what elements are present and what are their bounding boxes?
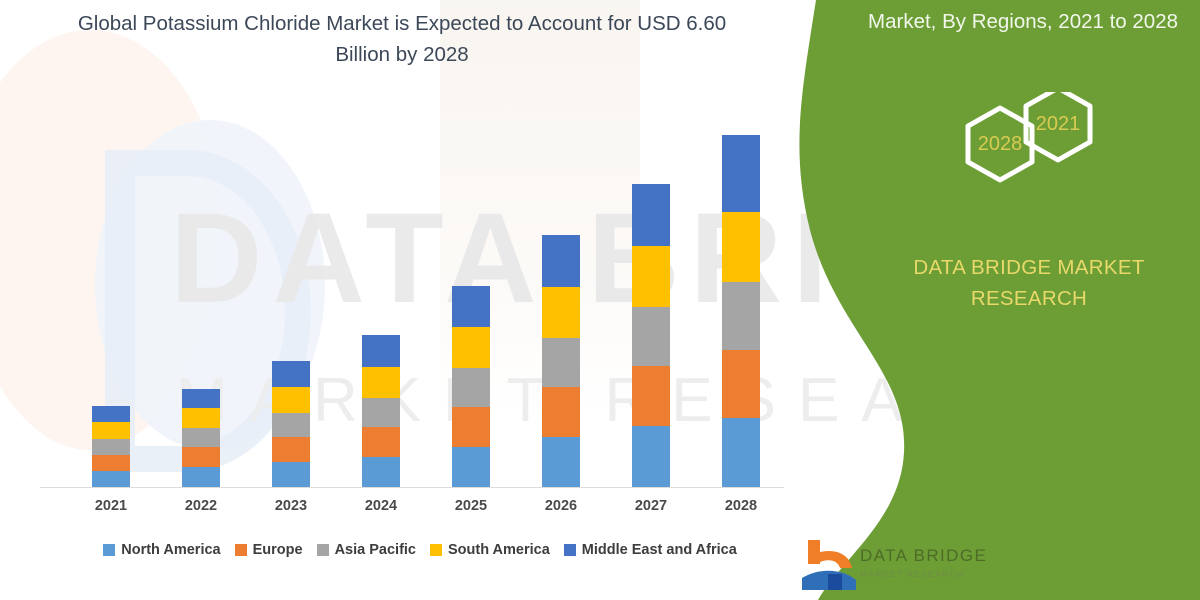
bar-segment — [722, 135, 760, 212]
legend-item[interactable]: Asia Pacific — [317, 542, 416, 558]
bar-segment — [362, 427, 400, 457]
bar-segment — [542, 437, 580, 488]
legend-label: South America — [448, 542, 550, 558]
logo-line-1: DATA BRIDGE — [860, 546, 987, 565]
bar-segment — [272, 413, 310, 437]
bar-segment — [452, 407, 490, 447]
bar-segment — [452, 447, 490, 488]
bar-segment — [632, 307, 670, 366]
bar-segment — [632, 426, 670, 488]
chart-plot-area — [40, 100, 780, 488]
legend-item[interactable]: North America — [103, 542, 220, 558]
x-tick-2021: 2021 — [81, 498, 141, 514]
bar-segment — [362, 335, 400, 367]
panel-heading: Market, By Regions, 2021 to 2028 — [848, 6, 1178, 37]
bar-segment — [272, 462, 310, 488]
bar-segment — [722, 212, 760, 282]
bar-segment — [272, 387, 310, 413]
x-axis-tick-labels: 20212022202320242025202620272028 — [40, 498, 784, 522]
hexagon-group: 2028 2021 — [934, 92, 1114, 217]
svg-text:2021: 2021 — [1036, 113, 1081, 135]
bar-segment — [542, 338, 580, 387]
bar-segment — [722, 418, 760, 488]
bar-segment — [722, 350, 760, 418]
green-side-panel: Market, By Regions, 2021 to 2028 2028 20… — [780, 0, 1200, 600]
legend-label: Europe — [253, 542, 303, 558]
bar-2024 — [362, 335, 400, 488]
bar-segment — [362, 457, 400, 488]
bar-segment — [452, 327, 490, 368]
bar-segment — [722, 282, 760, 350]
bar-2028 — [722, 135, 760, 488]
bar-2023 — [272, 361, 310, 488]
bar-2021 — [92, 406, 130, 488]
stacked-bar-chart: 20212022202320242025202620272028 North A… — [0, 0, 810, 600]
legend-swatch-icon — [564, 544, 576, 556]
bar-segment — [542, 387, 580, 437]
logo-line-2: MARKET RESEARCH — [860, 565, 1040, 584]
legend-swatch-icon — [317, 544, 329, 556]
bar-segment — [92, 471, 130, 488]
bar-segment — [452, 368, 490, 407]
chart-legend: North AmericaEuropeAsia PacificSouth Ame… — [40, 538, 800, 562]
bar-segment — [92, 439, 130, 455]
bar-segment — [362, 367, 400, 398]
legend-label: Middle East and Africa — [582, 542, 737, 558]
svg-text:2028: 2028 — [978, 133, 1023, 155]
legend-swatch-icon — [235, 544, 247, 556]
bar-segment — [182, 447, 220, 467]
data-bridge-logo: DATA BRIDGE MARKET RESEARCH — [798, 534, 1038, 598]
bar-2022 — [182, 389, 220, 488]
bar-segment — [452, 286, 490, 327]
bar-segment — [272, 437, 310, 462]
bar-segment — [272, 361, 310, 387]
x-tick-2026: 2026 — [531, 498, 591, 514]
x-tick-2028: 2028 — [711, 498, 771, 514]
logo-text: DATA BRIDGE MARKET RESEARCH — [860, 546, 1040, 584]
bar-2027 — [632, 184, 670, 488]
legend-swatch-icon — [430, 544, 442, 556]
x-tick-2027: 2027 — [621, 498, 681, 514]
legend-label: Asia Pacific — [335, 542, 416, 558]
legend-swatch-icon — [103, 544, 115, 556]
legend-label: North America — [121, 542, 220, 558]
brand-name: DATA BRIDGE MARKET RESEARCH — [884, 252, 1174, 314]
bar-segment — [92, 455, 130, 471]
x-tick-2023: 2023 — [261, 498, 321, 514]
bar-segment — [632, 366, 670, 426]
legend-item[interactable]: Middle East and Africa — [564, 542, 737, 558]
bar-segment — [92, 406, 130, 422]
bar-segment — [182, 428, 220, 447]
x-tick-2022: 2022 — [171, 498, 231, 514]
x-tick-2024: 2024 — [351, 498, 411, 514]
bar-segment — [182, 389, 220, 408]
legend-item[interactable]: South America — [430, 542, 550, 558]
data-bridge-logo-mark — [798, 534, 860, 590]
bar-segment — [542, 287, 580, 338]
infographic-root: DATA BRIDGE MARKET RESEARCH Global Potas… — [0, 0, 1200, 600]
bar-segment — [182, 467, 220, 488]
bar-segment — [542, 235, 580, 287]
legend-item[interactable]: Europe — [235, 542, 303, 558]
bar-2026 — [542, 235, 580, 488]
bar-segment — [632, 184, 670, 246]
x-tick-2025: 2025 — [441, 498, 501, 514]
bar-segment — [182, 408, 220, 428]
x-axis-line — [40, 487, 784, 488]
bar-segment — [362, 398, 400, 427]
bar-2025 — [452, 286, 490, 488]
bar-segment — [632, 246, 670, 307]
bar-segment — [92, 422, 130, 439]
